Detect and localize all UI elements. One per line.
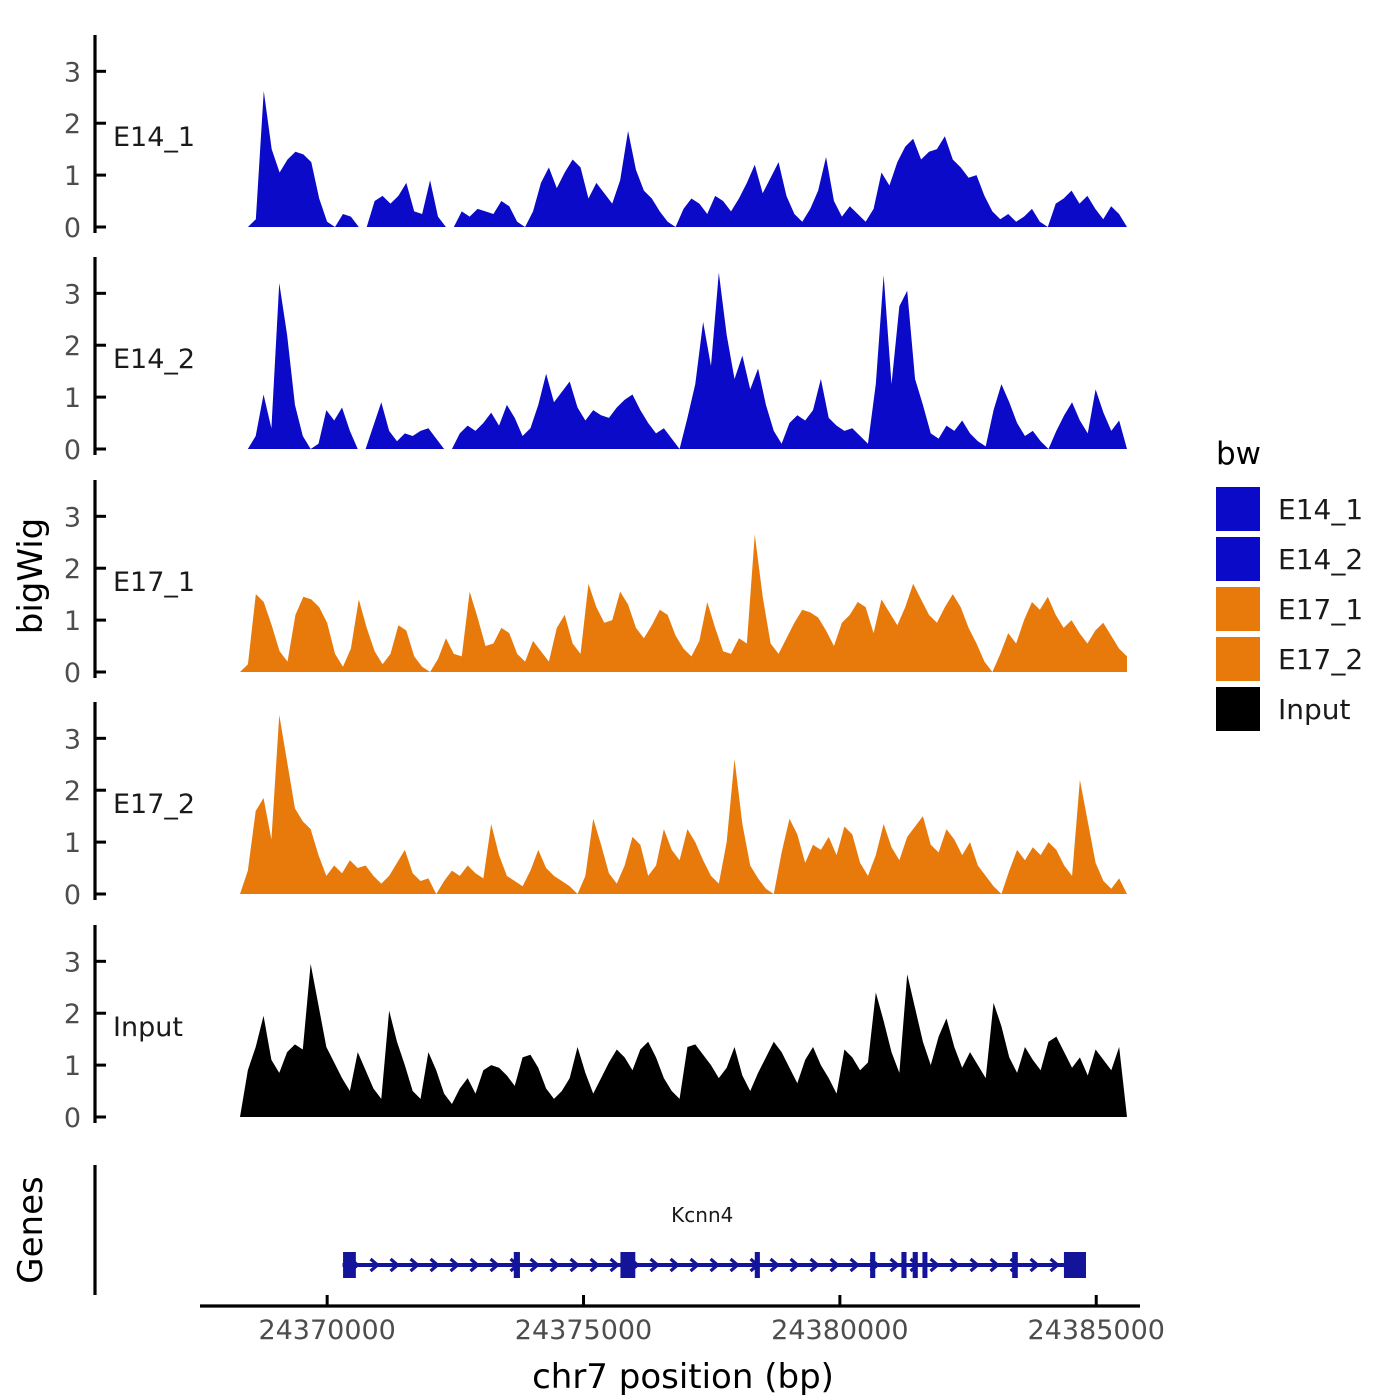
- y-tick-label-1: 1: [64, 161, 81, 192]
- legend-label-e17_2: E17_2: [1278, 643, 1363, 676]
- legend-swatch-input[interactable]: [1216, 687, 1260, 731]
- gene-exon-8: [922, 1252, 927, 1278]
- legend-label-e17_1: E17_1: [1278, 593, 1363, 626]
- gene-exon-7: [913, 1252, 918, 1278]
- genes-axis-title: Genes: [11, 1176, 51, 1283]
- track-label-input: Input: [113, 1012, 183, 1043]
- y-tick-label-0: 0: [64, 213, 81, 244]
- track-area-e17_1: [240, 534, 1127, 672]
- gene-exon-9: [1012, 1252, 1018, 1278]
- x-tick-label-24375000: 24375000: [515, 1315, 652, 1346]
- y-tick-label-0: 0: [64, 880, 81, 911]
- legend-label-e14_1: E14_1: [1278, 493, 1363, 526]
- track-label-e14_1: E14_1: [113, 122, 195, 153]
- y-tick-label-0: 0: [64, 435, 81, 466]
- track-label-e17_1: E17_1: [113, 567, 195, 598]
- y-tick-label-3: 3: [64, 279, 81, 310]
- gene-exon-2: [514, 1252, 520, 1278]
- y-tick-label-1: 1: [64, 1051, 81, 1082]
- legend-title: bw: [1216, 436, 1261, 472]
- gene-name-label: Kcnn4: [671, 1203, 733, 1227]
- y-tick-label-1: 1: [64, 383, 81, 414]
- gene-exon-5: [870, 1252, 875, 1278]
- legend-swatch-e17_2[interactable]: [1216, 637, 1260, 681]
- y-tick-label-2: 2: [64, 331, 81, 362]
- figure-root: 0123E14_10123E14_20123E17_10123E17_20123…: [0, 0, 1400, 1400]
- x-tick-label-24380000: 24380000: [771, 1315, 908, 1346]
- track-panel-e17_2: 0123E17_2: [64, 702, 1127, 911]
- legend-label-e14_2: E14_2: [1278, 543, 1363, 576]
- y-tick-label-1: 1: [64, 828, 81, 859]
- y-tick-label-3: 3: [64, 724, 81, 755]
- y-tick-label-3: 3: [64, 57, 81, 88]
- y-tick-label-3: 3: [64, 947, 81, 978]
- gene-exon-10: [1064, 1252, 1086, 1278]
- x-axis-title: chr7 position (bp): [532, 1357, 834, 1397]
- track-area-e17_2: [240, 715, 1127, 894]
- y-tick-label-2: 2: [64, 776, 81, 807]
- y-tick-label-0: 0: [64, 658, 81, 689]
- gene-exon-6: [901, 1252, 906, 1278]
- track-panel-input: 0123Input: [64, 925, 1127, 1134]
- y-tick-label-2: 2: [64, 554, 81, 585]
- y-tick-label-3: 3: [64, 502, 81, 533]
- legend-label-input: Input: [1278, 693, 1351, 726]
- legend-swatch-e17_1[interactable]: [1216, 587, 1260, 631]
- y-tick-label-2: 2: [64, 109, 81, 140]
- y-tick-label-1: 1: [64, 606, 81, 637]
- track-area-e14_1: [240, 91, 1127, 227]
- track-panel-e17_1: 0123E17_1: [64, 480, 1127, 689]
- track-area-e14_2: [240, 273, 1127, 449]
- x-tick-label-24385000: 24385000: [1028, 1315, 1165, 1346]
- track-panel-e14_2: 0123E14_2: [64, 257, 1127, 466]
- legend-swatch-e14_2[interactable]: [1216, 537, 1260, 581]
- track-panel-e14_1: 0123E14_1: [64, 35, 1127, 244]
- y-axis-title: bigWig: [11, 518, 51, 635]
- y-tick-label-0: 0: [64, 1103, 81, 1134]
- track-label-e14_2: E14_2: [113, 344, 195, 375]
- legend-swatch-e14_1[interactable]: [1216, 487, 1260, 531]
- x-tick-label-24370000: 24370000: [258, 1315, 395, 1346]
- gene-exon-3: [620, 1252, 635, 1278]
- track-label-e17_2: E17_2: [113, 789, 195, 820]
- y-tick-label-2: 2: [64, 999, 81, 1030]
- legend: bwE14_1E14_2E17_1E17_2Input: [1216, 436, 1363, 731]
- track-area-input: [240, 964, 1127, 1117]
- gene-exon-1: [343, 1252, 356, 1278]
- genes-panel: GenesKcnn4: [11, 1165, 1086, 1295]
- genome-browser-figure: 0123E14_10123E14_20123E17_10123E17_20123…: [0, 0, 1400, 1400]
- gene-exon-4: [755, 1252, 760, 1278]
- x-axis: 24370000243750002438000024385000chr7 pos…: [200, 1295, 1165, 1397]
